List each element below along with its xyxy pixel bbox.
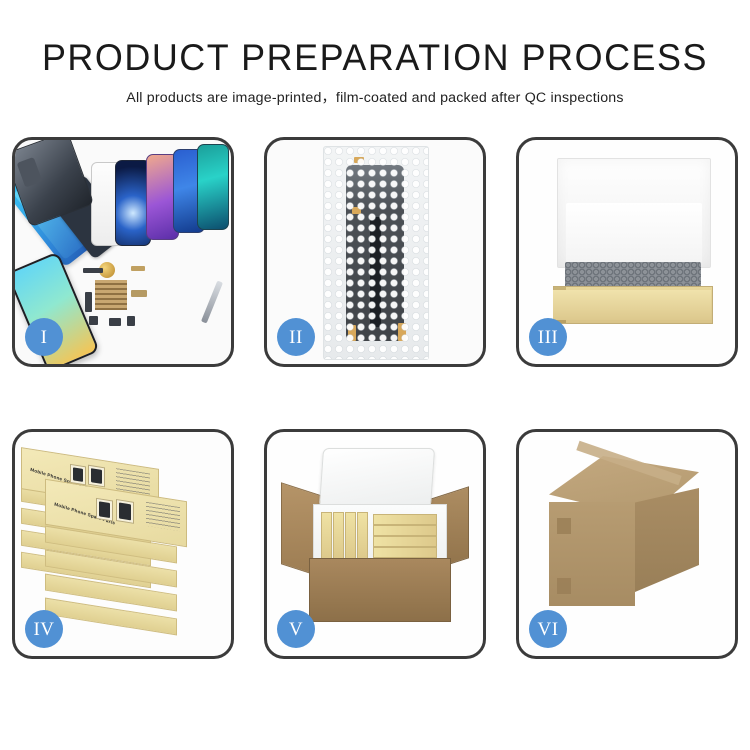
yellow-box-vertical-4 [357, 512, 368, 560]
step-badge-1: I [25, 318, 63, 356]
product-preparation-infographic: PRODUCT PREPARATION PROCESS All products… [0, 0, 750, 750]
sealed-carton-side [635, 488, 699, 592]
process-step-4[interactable]: Mobile Phone Spare Parts Mobile Phone Sp… [12, 429, 234, 659]
process-step-1[interactable]: I [12, 137, 234, 367]
box-spec-lines-front [146, 502, 180, 531]
yellow-box-vertical-3 [345, 512, 356, 560]
speaker-part [109, 318, 121, 326]
flex-cable-part-a [85, 292, 92, 312]
yellow-box-vertical-2 [333, 512, 344, 560]
process-step-3[interactable]: III [516, 137, 738, 367]
page-title: PRODUCT PREPARATION PROCESS [11, 36, 739, 80]
step-badge-2: II [277, 318, 315, 356]
yellow-box-horizontal-4 [373, 547, 437, 558]
camera-module-part [89, 316, 98, 325]
yellow-box-vertical-1 [321, 512, 332, 560]
process-step-6[interactable]: VI [516, 429, 738, 659]
yellow-box-horizontal-3 [373, 536, 437, 547]
box-art-front-b [116, 499, 134, 524]
bubble-wrap-bag [323, 146, 429, 360]
carton-front-panel [309, 558, 451, 622]
yellow-box-horizontal-2 [373, 525, 437, 536]
step-badge-4: IV [25, 610, 63, 648]
box-art-rear-b [88, 465, 105, 488]
flex-cable-part-b [131, 290, 147, 297]
phone-display-teal [197, 144, 229, 230]
process-step-5[interactable]: V [264, 429, 486, 659]
box-art-front-a [96, 498, 113, 522]
styrofoam-lid [319, 448, 435, 508]
connector-part-b [131, 266, 145, 271]
step-badge-3: III [529, 318, 567, 356]
packed-yellow-boxes [321, 512, 437, 558]
carton-tab-upper [557, 518, 571, 534]
step-badge-5: V [277, 610, 315, 648]
process-step-2[interactable]: II [264, 137, 486, 367]
process-step-grid: I II [12, 137, 738, 689]
screwdriver-tool [201, 280, 223, 323]
white-foam-lid [557, 158, 711, 268]
button-part [127, 316, 135, 326]
step-badge-6: VI [529, 610, 567, 648]
bubble-texture [324, 147, 428, 359]
yellow-box-horizontal-1 [373, 514, 437, 525]
screw-tray-part [95, 280, 127, 310]
connector-part-a [83, 268, 103, 273]
page-subtitle: All products are image-printed，film-coat… [0, 88, 750, 108]
header: PRODUCT PREPARATION PROCESS All products… [0, 36, 750, 108]
kraft-box-front [553, 290, 711, 320]
carton-tab-lower [557, 578, 571, 594]
